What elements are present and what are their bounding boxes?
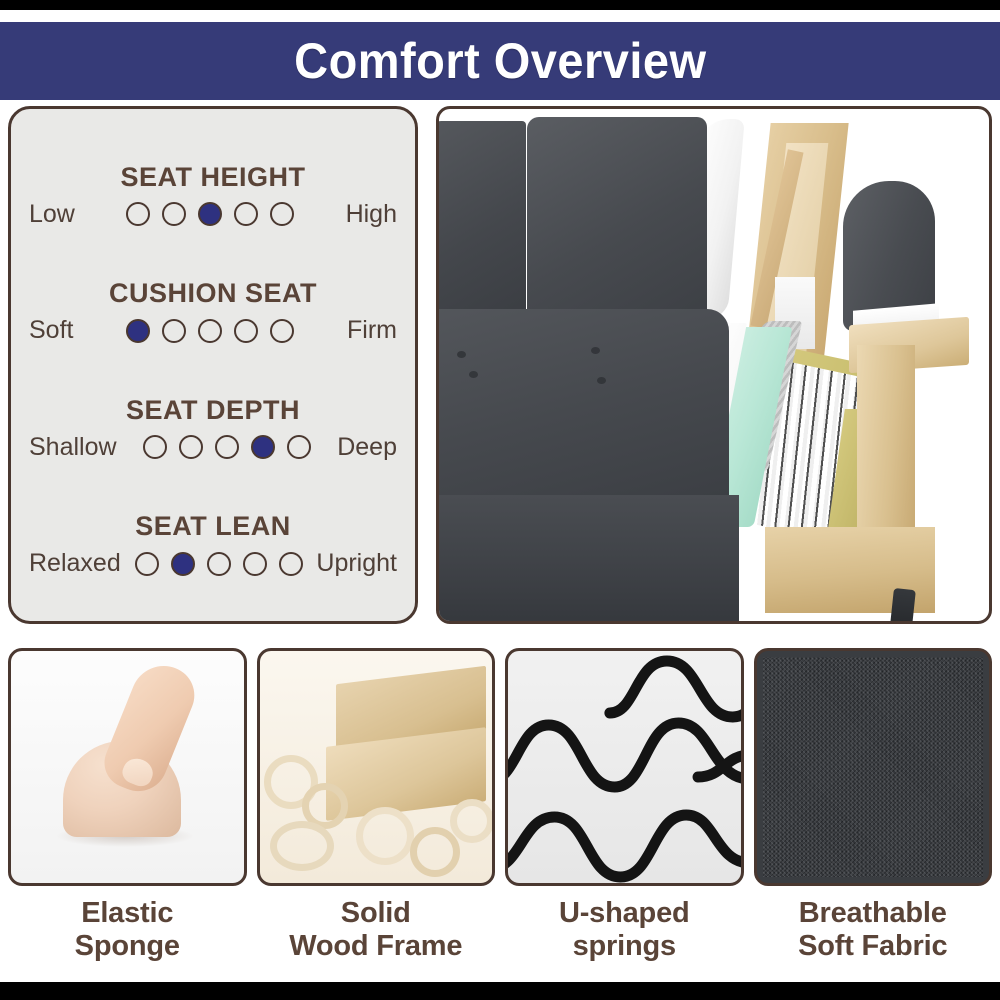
- feature-caption-line2: springs: [559, 930, 690, 963]
- feature-cards-row: Elastic Sponge Solid Wood Frame: [0, 648, 1000, 982]
- rating-group-seat-height: SEAT HEIGHT Low High: [23, 162, 403, 229]
- tuft-button: [457, 351, 466, 358]
- rating-dot-1[interactable]: [143, 435, 167, 459]
- scale-label-right: High: [346, 200, 397, 229]
- letterbox-bottom-bar: [0, 982, 1000, 1000]
- tuft-button: [597, 377, 606, 384]
- page-title: Comfort Overview: [294, 32, 706, 90]
- rating-dots[interactable]: [143, 435, 311, 459]
- rating-dot-3[interactable]: [207, 552, 231, 576]
- wood-shaving: [410, 827, 460, 877]
- rating-dot-2[interactable]: [162, 202, 186, 226]
- feature-caption-line2: Soft Fabric: [798, 930, 947, 963]
- rating-dot-1[interactable]: [126, 202, 150, 226]
- rating-heading: SEAT DEPTH: [23, 395, 403, 426]
- rating-dots[interactable]: [126, 202, 294, 226]
- rating-dot-5[interactable]: [270, 202, 294, 226]
- rating-group-seat-lean: SEAT LEAN Relaxed Upright: [23, 511, 403, 578]
- rating-group-cushion-seat: CUSHION SEAT Soft Firm: [23, 278, 403, 345]
- tuft-button: [591, 347, 600, 354]
- breathable-soft-fabric-image: [754, 648, 993, 886]
- sofa-cutaway-photo: [436, 106, 992, 624]
- feature-card-u-shaped-springs: U-shaped springs: [505, 648, 744, 982]
- feature-card-breathable-soft-fabric: Breathable Soft Fabric: [754, 648, 993, 982]
- seat-front-panel: [436, 495, 739, 624]
- rating-dot-4[interactable]: [243, 552, 267, 576]
- letterbox-top-bar: [0, 0, 1000, 10]
- feature-caption: U-shaped springs: [559, 897, 690, 963]
- rating-dot-1[interactable]: [126, 319, 150, 343]
- scale-label-left: Soft: [29, 316, 73, 345]
- rating-scale: Shallow Deep: [23, 433, 403, 462]
- rating-heading: SEAT LEAN: [23, 511, 403, 542]
- feature-caption: Breathable Soft Fabric: [798, 897, 947, 963]
- scale-label-left: Relaxed: [29, 549, 121, 578]
- rating-dot-4[interactable]: [234, 319, 258, 343]
- solid-wood-frame-image: [257, 648, 496, 886]
- scale-label-left: Shallow: [29, 433, 117, 462]
- back-cushion-left: [436, 121, 526, 326]
- rating-dot-4[interactable]: [251, 435, 275, 459]
- feature-caption: Solid Wood Frame: [289, 897, 462, 963]
- feature-card-elastic-sponge: Elastic Sponge: [8, 648, 247, 982]
- wood-shaving: [450, 799, 494, 843]
- scale-label-left: Low: [29, 200, 75, 229]
- rating-dot-2[interactable]: [179, 435, 203, 459]
- tuft-button: [469, 371, 478, 378]
- scale-label-right: Deep: [337, 433, 397, 462]
- rating-scale: Relaxed Upright: [23, 549, 403, 578]
- u-shaped-springs-image: [505, 648, 744, 886]
- rating-heading: CUSHION SEAT: [23, 278, 403, 309]
- sofa-illustration: [439, 109, 989, 621]
- rating-scale: Soft Firm: [23, 316, 403, 345]
- feature-caption-line1: Breathable: [798, 897, 947, 930]
- rating-dot-2[interactable]: [162, 319, 186, 343]
- main-content-row: SEAT HEIGHT Low High CUSHION SEAT: [0, 106, 1000, 640]
- fabric-texture: [763, 657, 984, 877]
- header-banner: Comfort Overview: [0, 22, 1000, 100]
- wood-shaving: [270, 821, 334, 871]
- feature-caption-line2: Sponge: [75, 930, 180, 963]
- rating-dot-1[interactable]: [135, 552, 159, 576]
- rating-dot-3[interactable]: [198, 202, 222, 226]
- rating-dot-5[interactable]: [287, 435, 311, 459]
- rating-dot-3[interactable]: [215, 435, 239, 459]
- rating-group-seat-depth: SEAT DEPTH Shallow Deep: [23, 395, 403, 462]
- wood-shaving: [356, 807, 414, 865]
- seat-cushion: [436, 309, 729, 509]
- feature-caption-line2: Wood Frame: [289, 930, 462, 963]
- feature-caption-line1: Elastic: [75, 897, 180, 930]
- feature-caption-line1: Solid: [289, 897, 462, 930]
- infographic-page: Comfort Overview SEAT HEIGHT Low High: [0, 10, 1000, 982]
- serpentine-spring-icon: [508, 651, 741, 886]
- feature-card-solid-wood-frame: Solid Wood Frame: [257, 648, 496, 982]
- feature-caption: Elastic Sponge: [75, 897, 180, 963]
- rating-scale: Low High: [23, 200, 403, 229]
- comfort-ratings-panel: SEAT HEIGHT Low High CUSHION SEAT: [8, 106, 418, 624]
- rating-heading: SEAT HEIGHT: [23, 162, 403, 193]
- scale-label-right: Upright: [316, 549, 397, 578]
- rating-dot-5[interactable]: [270, 319, 294, 343]
- back-cushion-right: [527, 117, 707, 327]
- rating-dot-3[interactable]: [198, 319, 222, 343]
- rating-dot-4[interactable]: [234, 202, 258, 226]
- feature-caption-line1: U-shaped: [559, 897, 690, 930]
- rating-dot-2[interactable]: [171, 552, 195, 576]
- rating-dot-5[interactable]: [279, 552, 303, 576]
- rating-dots[interactable]: [135, 552, 303, 576]
- scale-label-right: Firm: [347, 316, 397, 345]
- rating-dots[interactable]: [126, 319, 294, 343]
- elastic-sponge-image: [8, 648, 247, 886]
